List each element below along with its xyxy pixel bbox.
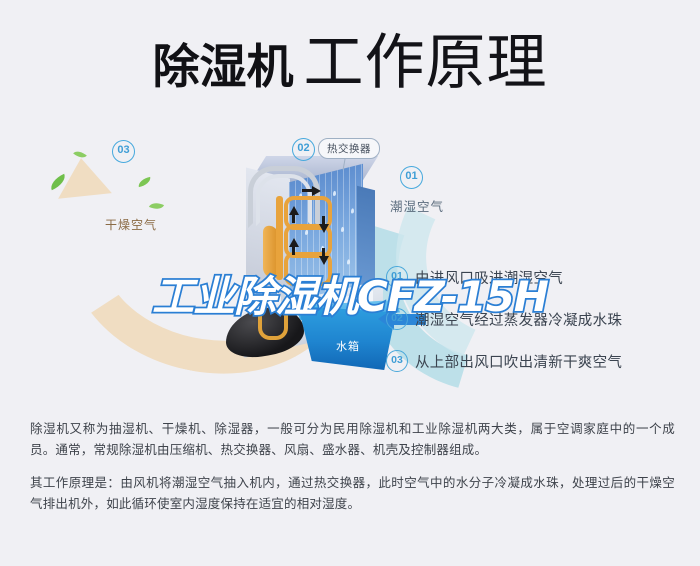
infographic-page: 除湿机工作原理 干燥空气 <box>0 0 700 566</box>
step-text-02: 潮湿空气经过蒸发器冷凝成水珠 <box>415 309 622 330</box>
body-paragraph-1: 除湿机又称为抽湿机、干燥机、除湿器，一般可分为民用除湿机和工业除湿机两大类，属于… <box>30 418 675 460</box>
page-title: 除湿机工作原理 <box>0 14 700 98</box>
airflow-arrow-right <box>312 186 321 196</box>
airflow-arrow-down <box>319 224 329 233</box>
step-badge-01: 01 <box>386 266 408 288</box>
airflow-arrow-up <box>289 238 299 247</box>
dry-air-label: 干燥空气 <box>105 216 157 233</box>
step-text-03: 从上部出风口吹出清新干爽空气 <box>415 351 622 372</box>
list-item: 02 潮湿空气经过蒸发器冷凝成水珠 <box>386 304 686 334</box>
airflow-arrow-up <box>289 206 299 215</box>
diagram-badge-02: 02 <box>292 138 315 161</box>
step-list: 01 由进风口吸进潮湿空气 02 潮湿空气经过蒸发器冷凝成水珠 03 从上部出风… <box>386 262 686 388</box>
diagram-badge-01: 01 <box>400 166 423 189</box>
diagram-badge-03: 03 <box>112 140 135 163</box>
list-item: 01 由进风口吸进潮湿空气 <box>386 262 686 292</box>
page-title-primary: 除湿机 <box>153 40 294 93</box>
body-paragraph-2: 其工作原理是：由风机将潮湿空气抽入机内，通过热交换器，此时空气中的水分子冷凝成水… <box>30 472 675 514</box>
airflow-arrow-right <box>302 189 313 192</box>
list-item: 03 从上部出风口吹出清新干爽空气 <box>386 346 686 376</box>
moist-air-label: 潮湿空气 <box>390 196 444 215</box>
body-copy: 除湿机又称为抽湿机、干燥机、除湿器，一般可分为民用除湿机和工业除湿机两大类，属于… <box>30 418 675 526</box>
step-text-01: 由进风口吸进潮湿空气 <box>415 267 563 288</box>
copper-riser <box>276 196 283 280</box>
step-badge-03: 03 <box>386 350 408 372</box>
airflow-arrow-down <box>319 256 329 265</box>
compressor-copper-pipe <box>258 314 288 340</box>
airflow-arrow-up <box>292 246 295 255</box>
heat-exchanger-callout: 热交换器 <box>318 138 380 159</box>
airflow-arrow-up <box>292 214 295 223</box>
water-tank-label: 水箱 <box>336 338 360 354</box>
page-title-secondary: 工作原理 <box>304 28 548 98</box>
step-badge-02: 02 <box>386 308 408 330</box>
